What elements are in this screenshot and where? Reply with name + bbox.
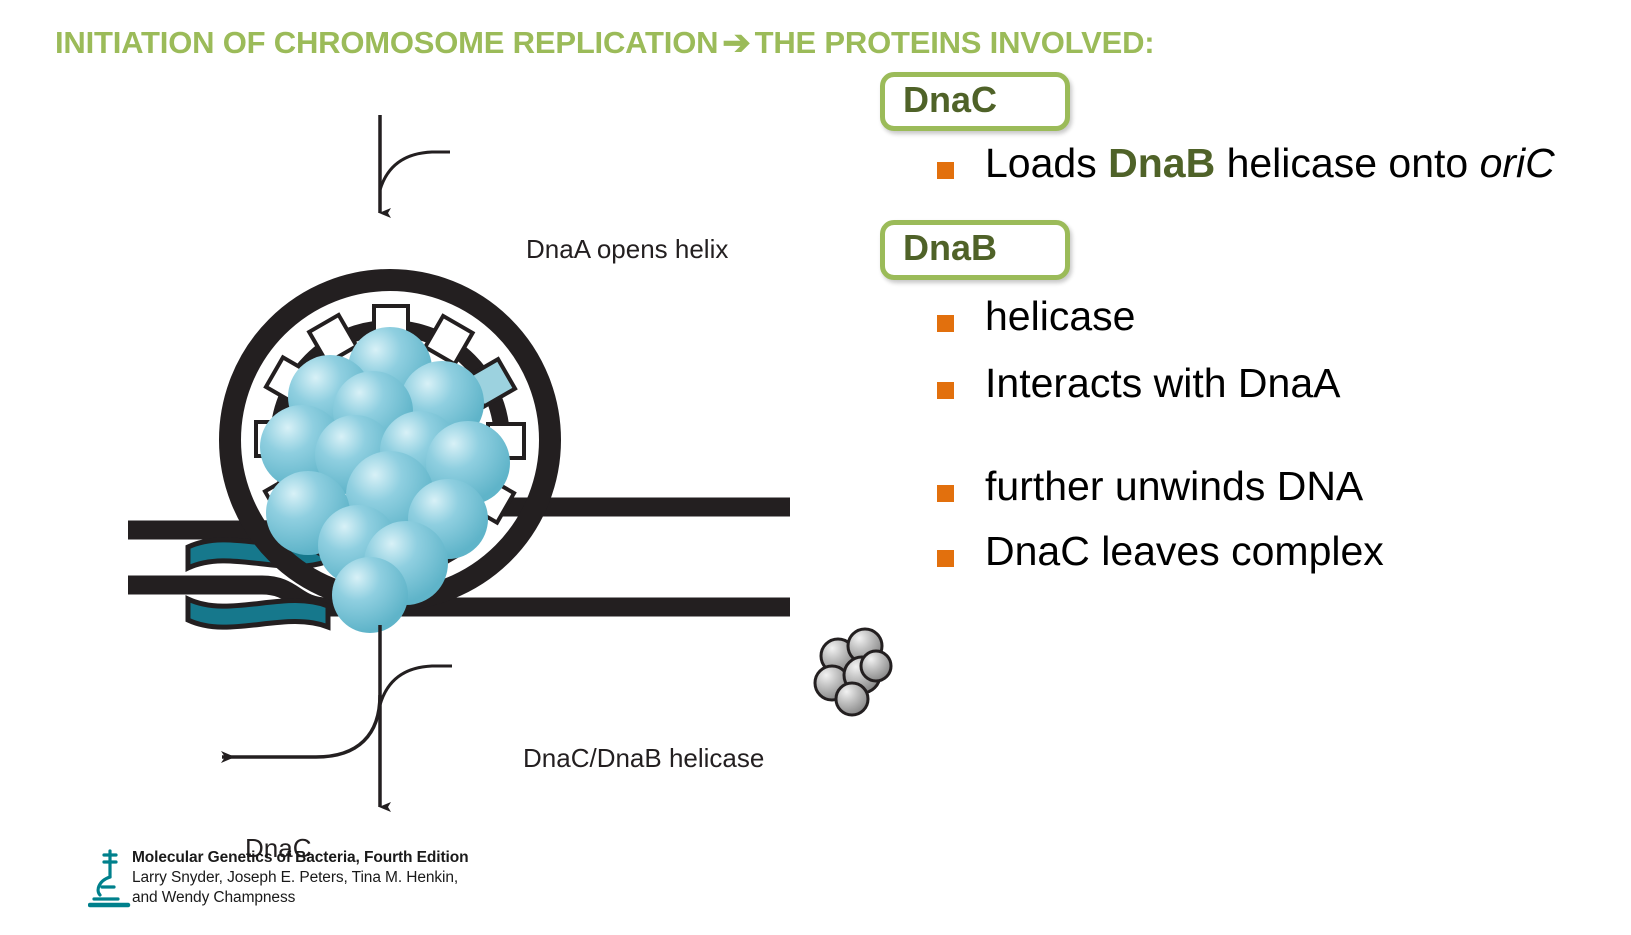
attribution-text: Molecular Genetics of Bacteria, Fourth E… — [132, 848, 468, 908]
arrow-right-icon: ➔ — [718, 23, 754, 63]
attribution: Molecular Genetics of Bacteria, Fourth E… — [88, 845, 558, 935]
square-bullet-icon — [937, 550, 954, 567]
bullet-text: Loads DnaB helicase onto oriC — [985, 141, 1580, 186]
bullet-item: DnaC leaves complex — [880, 529, 1580, 574]
page-title-part1: INITIATION OF CHROMOSOME REPLICATION — [55, 25, 718, 60]
bullet-item: helicase — [880, 294, 1580, 339]
left-arrow-icon — [222, 695, 380, 757]
microscope-icon — [88, 847, 132, 909]
bullet-text-fragment: helicase onto — [1215, 140, 1479, 186]
figure-label-dnaa-opens-helix: DnaA opens helix — [526, 234, 728, 265]
attribution-authors-2: and Wendy Champness — [132, 888, 468, 908]
protein-box-dnab[interactable]: DnaB — [880, 220, 1070, 279]
bullet-list-dnac: Loads DnaB helicase onto oriC — [880, 141, 1580, 186]
bullet-text: DnaC leaves complex — [985, 529, 1580, 574]
protein-section-dnab: DnaB helicase Interacts with DnaA furthe… — [880, 220, 1580, 574]
figure-label-dnac-dnab-helicase: DnaC/DnaB helicase — [523, 743, 764, 774]
square-bullet-icon — [937, 315, 954, 332]
replication-initiation-diagram: DnaA opens helix DnaC/DnaB helicase DnaC — [90, 95, 920, 835]
bullet-text-fragment-dnab: DnaB — [1108, 140, 1215, 186]
bullet-item: further unwinds DNA — [880, 464, 1415, 509]
protein-list-panel: DnaC Loads DnaB helicase onto oriC DnaB … — [880, 72, 1580, 574]
bullet-text: helicase — [985, 294, 1580, 339]
page-title-part2: THE PROTEINS INVOLVED: — [755, 25, 1155, 60]
protein-box-dnab-label: DnaB — [903, 228, 1039, 268]
square-bullet-icon — [937, 162, 954, 179]
square-bullet-icon — [937, 382, 954, 399]
attribution-authors-1: Larry Snyder, Joseph E. Peters, Tina M. … — [132, 868, 468, 888]
bullet-text: further unwinds DNA — [985, 464, 1415, 509]
down-arrow-icon — [380, 625, 452, 807]
square-bullet-icon — [937, 485, 954, 502]
protein-cluster-icon — [815, 629, 891, 715]
attribution-title: Molecular Genetics of Bacteria, Fourth E… — [132, 848, 468, 868]
bullet-item: Interacts with DnaA — [880, 361, 1580, 406]
bullet-list-dnab: helicase Interacts with DnaA further unw… — [880, 294, 1580, 574]
bullet-text-fragment-oric: oriC — [1480, 140, 1555, 186]
bullet-item: Loads DnaB helicase onto oriC — [880, 141, 1580, 186]
down-arrow-icon — [380, 115, 450, 213]
protein-box-dnac-label: DnaC — [903, 80, 1039, 120]
protein-section-dnac: DnaC Loads DnaB helicase onto oriC — [880, 72, 1580, 186]
bullet-text-fragment: Loads — [985, 140, 1108, 186]
diagram-svg — [90, 95, 920, 835]
bullet-text: Interacts with DnaA — [985, 361, 1580, 406]
page-title: INITIATION OF CHROMOSOME REPLICATION➔THE… — [55, 22, 1154, 62]
protein-box-dnac[interactable]: DnaC — [880, 72, 1070, 131]
